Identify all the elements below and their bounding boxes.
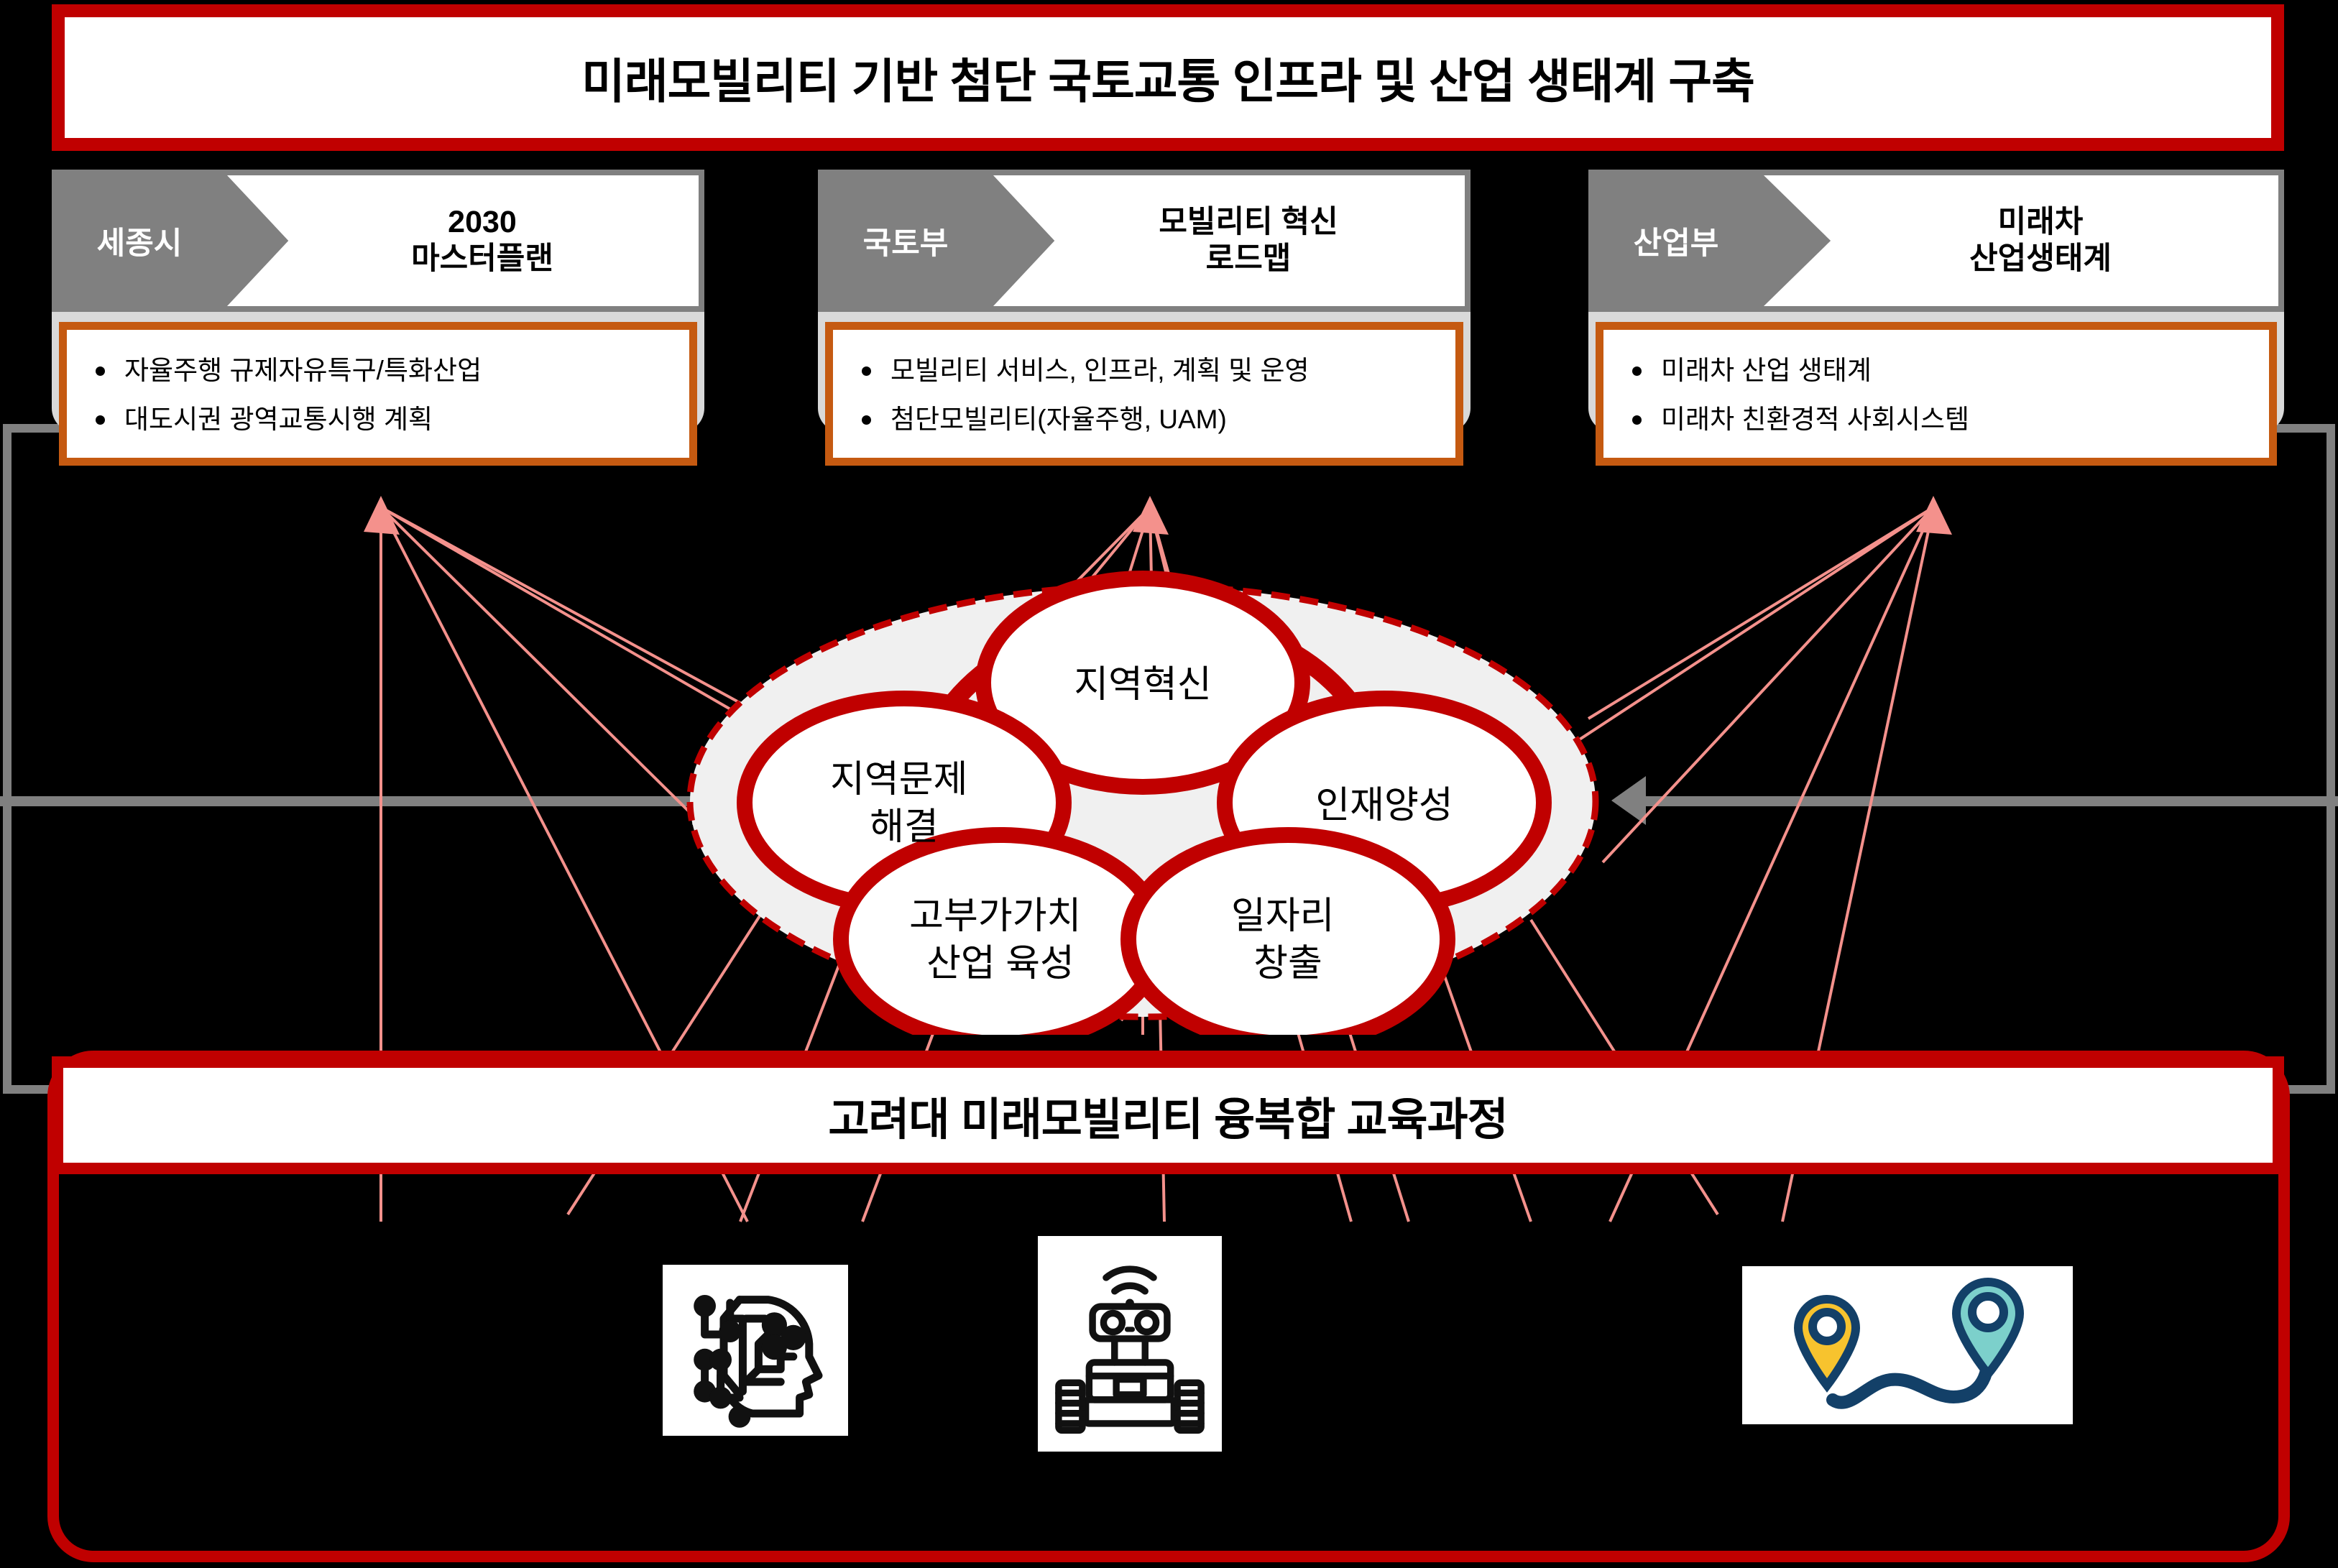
bottom-banner-text: 고려대 미래모빌리티 융복합 교육과정 (828, 1083, 1507, 1148)
center-cycle-cluster: 지역혁신 지역문제 해결 인재양성 고부가가치 산업 육성 일자리 창출 (676, 568, 1610, 1035)
panel-bullet-box: 모빌리티 서비스, 인프라, 계획 및 운영 첨단모빌리티(자율주행, UAM) (825, 322, 1463, 466)
panel-header-chevron: 산업부 미래차 산업생태계 (1588, 170, 2284, 312)
node-label-right: 인재양성 (1315, 785, 1453, 826)
gray-connector-right-vertical (2327, 424, 2335, 1094)
gray-arrow-shaft-left (0, 796, 697, 806)
panel-bullet-box: 미래차 산업 생태계 미래차 친환경적 사회시스템 (1596, 322, 2277, 466)
diagram-canvas: 미래모빌리티 기반 첨단 국토교통 인프라 및 산업 생태계 구축 (0, 0, 2338, 1568)
program-title-line2: 마스터플랜 (411, 241, 553, 277)
bottom-banner: 고려대 미래모빌리티 융복합 교육과정 (52, 1056, 2284, 1174)
panel-bullet-box: 자율주행 규제자유특구/특화산업 대도시권 광역교통시행 계획 (59, 322, 697, 466)
panel-header-chevron: 국토부 모빌리티 혁신 로드맵 (818, 170, 1471, 312)
list-item: 미래차 산업 생태계 (1628, 354, 2262, 387)
list-item: 대도시권 광역교통시행 계획 (91, 403, 682, 436)
pink-arrowhead-panel1 (364, 496, 400, 535)
program-title-line2: 산업생태계 (1969, 241, 2112, 277)
list-item: 첨단모빌리티(자율주행, UAM) (857, 403, 1448, 436)
panel-motie[interactable]: 산업부 미래차 산업생태계 미래차 산업 생태계 미래차 친환경적 사회시스템 (1588, 170, 2284, 312)
program-title-line1: 2030 (448, 204, 517, 241)
list-item: 모빌리티 서비스, 인프라, 계획 및 운영 (857, 354, 1448, 387)
program-title-line1: 모빌리티 혁신 (1159, 204, 1338, 241)
robot-rover-icon (1038, 1236, 1222, 1452)
list-item: 자율주행 규제자유특구/특화산업 (91, 354, 682, 387)
agency-label: 산업부 (1588, 170, 1764, 312)
program-title: 2030 마스터플랜 (267, 170, 697, 312)
agency-label: 세종시 (52, 170, 227, 312)
panel-header-chevron: 세종시 2030 마스터플랜 (52, 170, 704, 312)
page-title: 미래모빌리티 기반 첨단 국토교통 인프라 및 산업 생태계 구축 (52, 4, 2284, 151)
route-map-pins-icon (1742, 1266, 2073, 1424)
pink-arrowhead-panel3 (1916, 496, 1952, 535)
program-title-line1: 미래차 (1998, 204, 2084, 241)
program-title: 모빌리티 혁신 로드맵 (1034, 170, 1463, 312)
gray-arrow-shaft-right (1641, 796, 2338, 806)
program-title: 미래차 산업생태계 (1804, 170, 2277, 312)
node-label-top: 지역혁신 (1074, 664, 1211, 706)
pink-arrowhead-panel2 (1133, 496, 1169, 535)
panel-sejong[interactable]: 세종시 2030 마스터플랜 자율주행 규제자유특구/특화산업 대도시권 광역교… (52, 170, 704, 312)
gray-arrow-head-left-pointing (1611, 776, 1646, 825)
gray-connector-left-vertical (3, 424, 11, 1094)
program-title-line2: 로드맵 (1206, 241, 1292, 277)
panel-molit[interactable]: 국토부 모빌리티 혁신 로드맵 모빌리티 서비스, 인프라, 계획 및 운영 첨… (818, 170, 1471, 312)
page-title-text: 미래모빌리티 기반 첨단 국토교통 인프라 및 산업 생태계 구축 (581, 43, 1754, 112)
list-item: 미래차 친환경적 사회시스템 (1628, 403, 2262, 436)
ai-brain-circuit-icon (663, 1265, 848, 1436)
agency-label: 국토부 (818, 170, 993, 312)
